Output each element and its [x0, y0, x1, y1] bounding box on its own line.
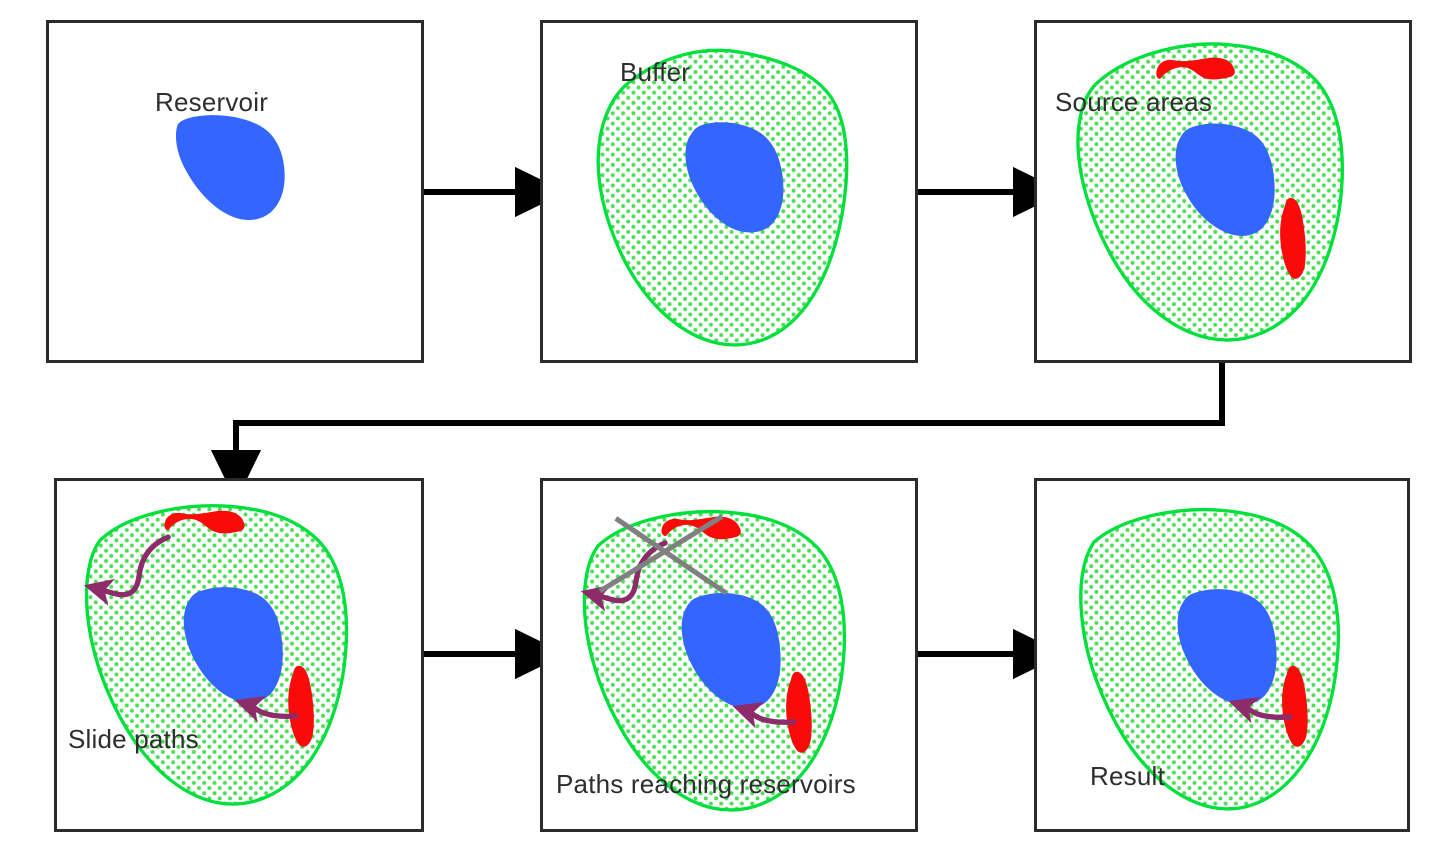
panel-reservoir: [46, 20, 424, 363]
label-paths-reaching-reservoirs: Paths reaching reservoirs: [556, 770, 856, 798]
label-slide-paths: Slide paths: [68, 725, 199, 753]
workflow-diagram: Reservoir Buffer: [0, 0, 1440, 854]
label-buffer: Buffer: [620, 58, 690, 86]
label-source-areas: Source areas: [1055, 88, 1212, 116]
connector-source-areas-to-slide-paths: [236, 363, 1222, 463]
reservoir-polygon: [176, 115, 285, 220]
panel-slide-paths: [54, 478, 424, 832]
label-result: Result: [1090, 762, 1165, 790]
panel-buffer: [540, 20, 918, 363]
label-reservoir: Reservoir: [155, 88, 268, 116]
panel-source-areas: [1034, 20, 1412, 363]
